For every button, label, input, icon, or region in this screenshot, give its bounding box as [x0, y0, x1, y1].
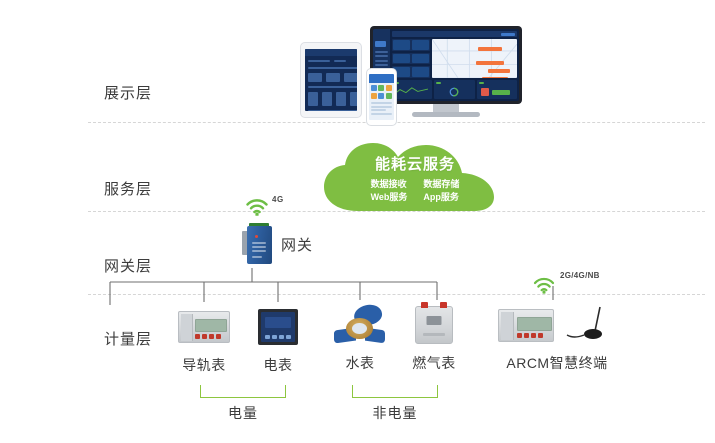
- dashboard-topbar: [392, 31, 517, 37]
- antenna-icon: [564, 305, 610, 345]
- layer-label-gateway: 网关层: [104, 255, 184, 276]
- tablet-device: [300, 42, 362, 118]
- device-gas-meter: 燃气表: [394, 303, 474, 373]
- gateway-node: 4G 网关: [236, 196, 356, 266]
- layer-divider-gateway-meter: [88, 294, 705, 295]
- display-layer-devices: [300, 8, 535, 118]
- dashboard-bottom-panels: [392, 80, 517, 99]
- layer-label-service: 服务层: [104, 178, 184, 199]
- device-label-arcm-terminal: ARCM智慧终端: [492, 353, 622, 373]
- wifi-signal-icon: [244, 196, 270, 216]
- bracket-label-power: 电量: [200, 403, 286, 423]
- layer-label-display: 展示层: [104, 82, 184, 103]
- bracket-label-non-power: 非电量: [352, 403, 438, 423]
- gauge-icon: [449, 87, 459, 97]
- dashboard-stat-cards: [392, 39, 430, 78]
- smartphone-device: [366, 68, 397, 126]
- device-label-electricity-meter: 电表: [238, 355, 318, 375]
- monitor-stand-base: [412, 112, 480, 117]
- device-label-gas-meter: 燃气表: [394, 353, 474, 373]
- device-arcm-terminal: 2G/4G/NB ARCM智慧终端: [492, 303, 622, 373]
- bracket-group-non-power: 非电量: [352, 385, 438, 423]
- device-label-water-meter: 水表: [320, 353, 400, 373]
- bracket-group-power: 电量: [200, 385, 286, 423]
- bracket-non-power-shape: [352, 385, 438, 398]
- gateway-device-icon: [242, 222, 274, 264]
- architecture-diagram: 展示层 服务层 网关层 计量层: [0, 0, 715, 443]
- phone-screen: [369, 74, 394, 120]
- arcm-terminal-icon: 2G/4G/NB: [492, 303, 622, 347]
- arcm-network-label: 2G/4G/NB: [560, 271, 600, 280]
- gateway-network-label: 4G: [272, 195, 284, 204]
- water-meter-icon: [320, 303, 400, 347]
- arcm-wifi-signal-icon: [532, 275, 556, 294]
- line-chart-icon: [394, 86, 428, 98]
- gas-meter-icon: [394, 303, 474, 347]
- gateway-label: 网关: [281, 234, 313, 255]
- device-water-meter: 水表: [320, 303, 400, 373]
- device-electricity-meter: 电表: [238, 305, 318, 375]
- device-label-din-rail-meter: 导轨表: [164, 355, 244, 375]
- bracket-power-shape: [200, 385, 286, 398]
- electricity-meter-icon: [238, 305, 318, 349]
- tablet-screen: [305, 49, 357, 111]
- device-din-rail-meter: 导轨表: [164, 305, 244, 375]
- din-rail-meter-icon: [164, 305, 244, 349]
- dashboard-map: [432, 39, 517, 78]
